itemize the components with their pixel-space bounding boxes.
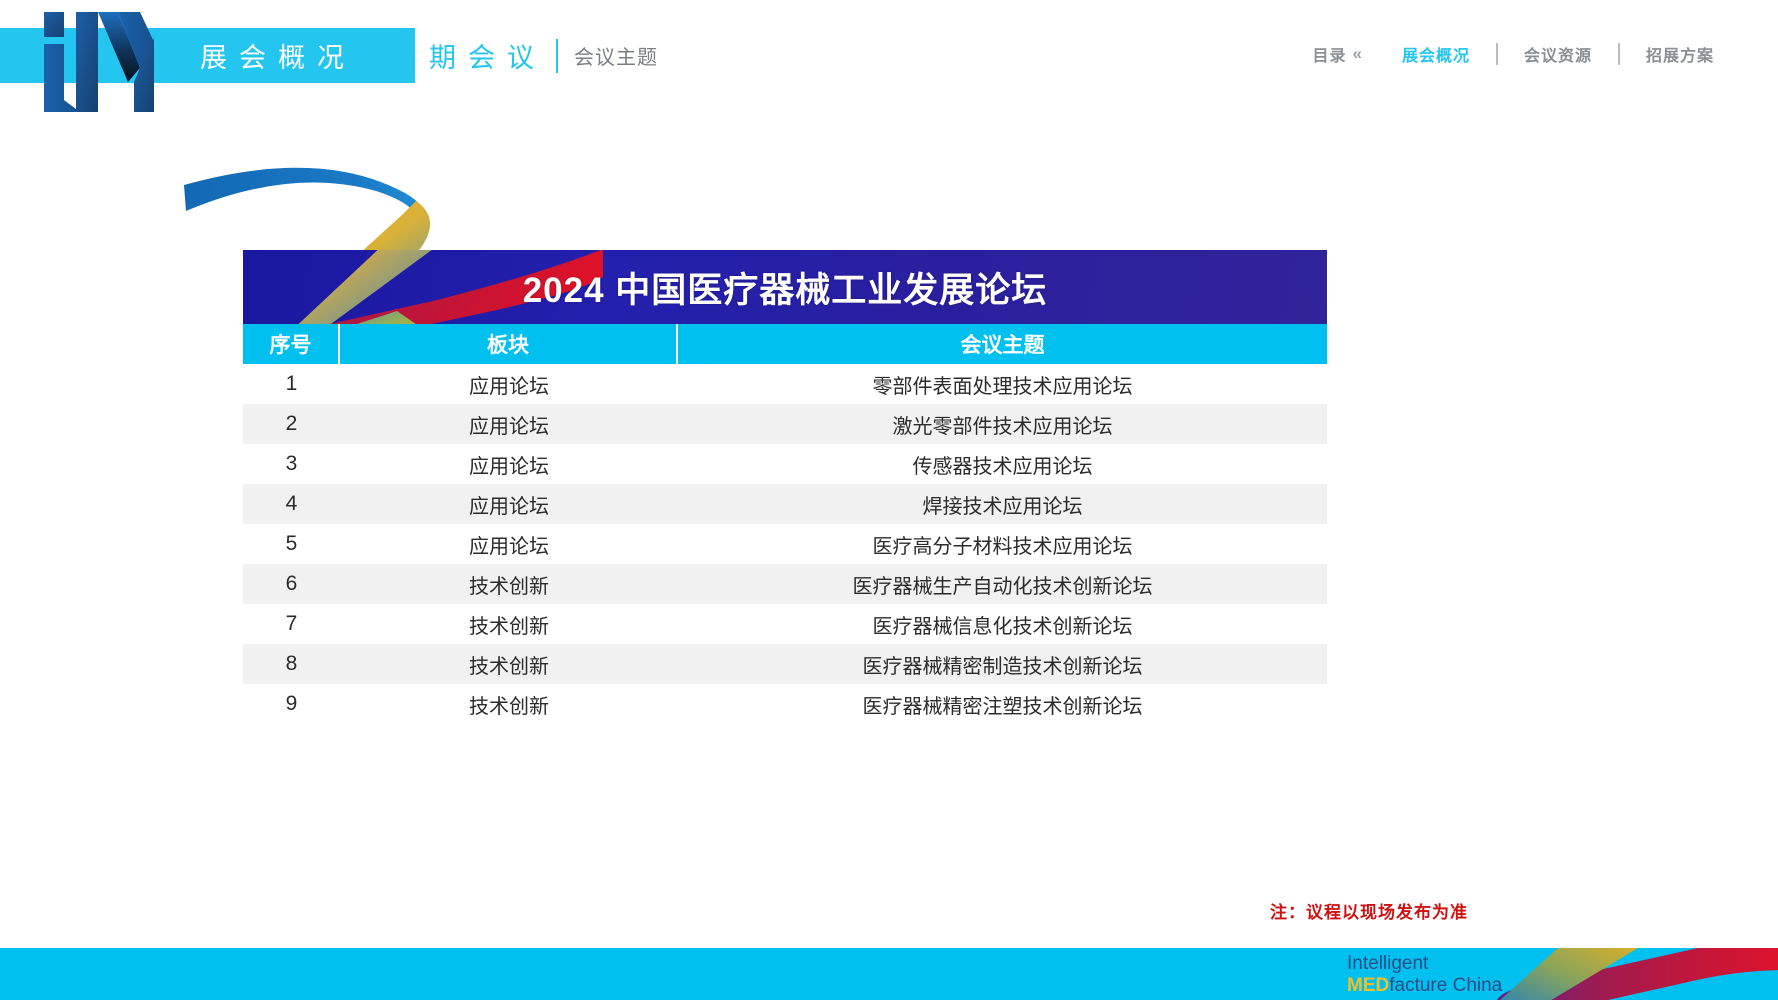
cell-section: 应用论坛 <box>340 524 678 564</box>
cell-topic: 传感器技术应用论坛 <box>678 444 1327 484</box>
column-header-no: 序号 <box>243 324 340 364</box>
column-header-section: 板块 <box>340 324 678 364</box>
cell-topic: 医疗器械信息化技术创新论坛 <box>678 604 1327 644</box>
header-title-secondary: 同期会议 <box>362 36 550 75</box>
cell-section: 技术创新 <box>340 564 678 604</box>
table-row: 3应用论坛传感器技术应用论坛 <box>243 444 1327 484</box>
page-header: 展会概况 同期会议 会议主题 目录 « 展会概况 会议资源 招展方案 <box>0 0 1778 110</box>
cell-no: 2 <box>243 404 340 444</box>
footer-ribbon-decoration <box>1488 948 1778 1000</box>
cell-no: 9 <box>243 684 340 724</box>
table-row: 8技术创新医疗器械精密制造技术创新论坛 <box>243 644 1327 684</box>
cell-topic: 焊接技术应用论坛 <box>678 484 1327 524</box>
footer-brand: Intelligent MEDfacture China <box>1347 953 1502 998</box>
cell-topic: 零部件表面处理技术应用论坛 <box>678 364 1327 404</box>
footer-brand-med: MED <box>1347 975 1389 996</box>
table-row: 5应用论坛医疗高分子材料技术应用论坛 <box>243 524 1327 564</box>
header-subtitle: 会议主题 <box>574 41 658 70</box>
cell-section: 应用论坛 <box>340 404 678 444</box>
header-title-divider <box>556 39 558 73</box>
footer-brand-rest: facture China <box>1389 975 1502 996</box>
header-title-group: 展会概况 同期会议 会议主题 <box>180 28 658 83</box>
cell-no: 1 <box>243 364 340 404</box>
table-row: 9技术创新医疗器械精密注塑技术创新论坛 <box>243 684 1327 724</box>
table-row: 4应用论坛焊接技术应用论坛 <box>243 484 1327 524</box>
nav-item-exhibition-overview[interactable]: 展会概况 <box>1376 42 1496 66</box>
table-row: 7技术创新医疗器械信息化技术创新论坛 <box>243 604 1327 644</box>
table-row: 1应用论坛零部件表面处理技术应用论坛 <box>243 364 1327 404</box>
chevron-left-double-icon[interactable]: « <box>1352 44 1361 64</box>
cell-no: 6 <box>243 564 340 604</box>
page-footer: Intelligent MEDfacture China <box>0 948 1778 1000</box>
cell-topic: 激光零部件技术应用论坛 <box>678 404 1327 444</box>
nav-menu-label[interactable]: 目录 <box>1312 42 1346 66</box>
cell-no: 4 <box>243 484 340 524</box>
nav-item-conference-resources[interactable]: 会议资源 <box>1498 42 1618 66</box>
top-navigation: 目录 « 展会概况 会议资源 招展方案 <box>1312 42 1740 66</box>
cell-section: 技术创新 <box>340 684 678 724</box>
agenda-note: 注：议程以现场发布为准 <box>1270 898 1468 923</box>
table-body: 1应用论坛零部件表面处理技术应用论坛2应用论坛激光零部件技术应用论坛3应用论坛传… <box>243 364 1327 724</box>
cell-section: 技术创新 <box>340 644 678 684</box>
cell-section: 技术创新 <box>340 604 678 644</box>
cell-no: 7 <box>243 604 340 644</box>
cell-topic: 医疗器械精密注塑技术创新论坛 <box>678 684 1327 724</box>
cell-section: 应用论坛 <box>340 484 678 524</box>
cell-no: 3 <box>243 444 340 484</box>
im-logo <box>28 8 173 118</box>
cell-section: 应用论坛 <box>340 444 678 484</box>
table-title-bar: 2024 中国医疗器械工业发展论坛 <box>243 250 1327 324</box>
cell-no: 8 <box>243 644 340 684</box>
footer-brand-line1: Intelligent <box>1347 953 1502 975</box>
cell-topic: 医疗器械生产自动化技术创新论坛 <box>678 564 1327 604</box>
table-header-row: 序号 板块 会议主题 <box>243 324 1327 364</box>
conference-topics-table: 2024 中国医疗器械工业发展论坛 序号 板块 会议主题 1应用论坛零部件表面处… <box>243 250 1327 724</box>
column-header-topic: 会议主题 <box>678 324 1327 364</box>
cell-topic: 医疗器械精密制造技术创新论坛 <box>678 644 1327 684</box>
cell-topic: 医疗高分子材料技术应用论坛 <box>678 524 1327 564</box>
table-row: 6技术创新医疗器械生产自动化技术创新论坛 <box>243 564 1327 604</box>
cell-section: 应用论坛 <box>340 364 678 404</box>
header-title-primary: 展会概况 <box>180 36 362 75</box>
table-row: 2应用论坛激光零部件技术应用论坛 <box>243 404 1327 444</box>
table-title-text: 2024 中国医疗器械工业发展论坛 <box>243 250 1327 324</box>
cell-no: 5 <box>243 524 340 564</box>
footer-brand-line2: MEDfacture China <box>1347 975 1502 997</box>
nav-item-exhibitor-plan[interactable]: 招展方案 <box>1620 42 1740 66</box>
